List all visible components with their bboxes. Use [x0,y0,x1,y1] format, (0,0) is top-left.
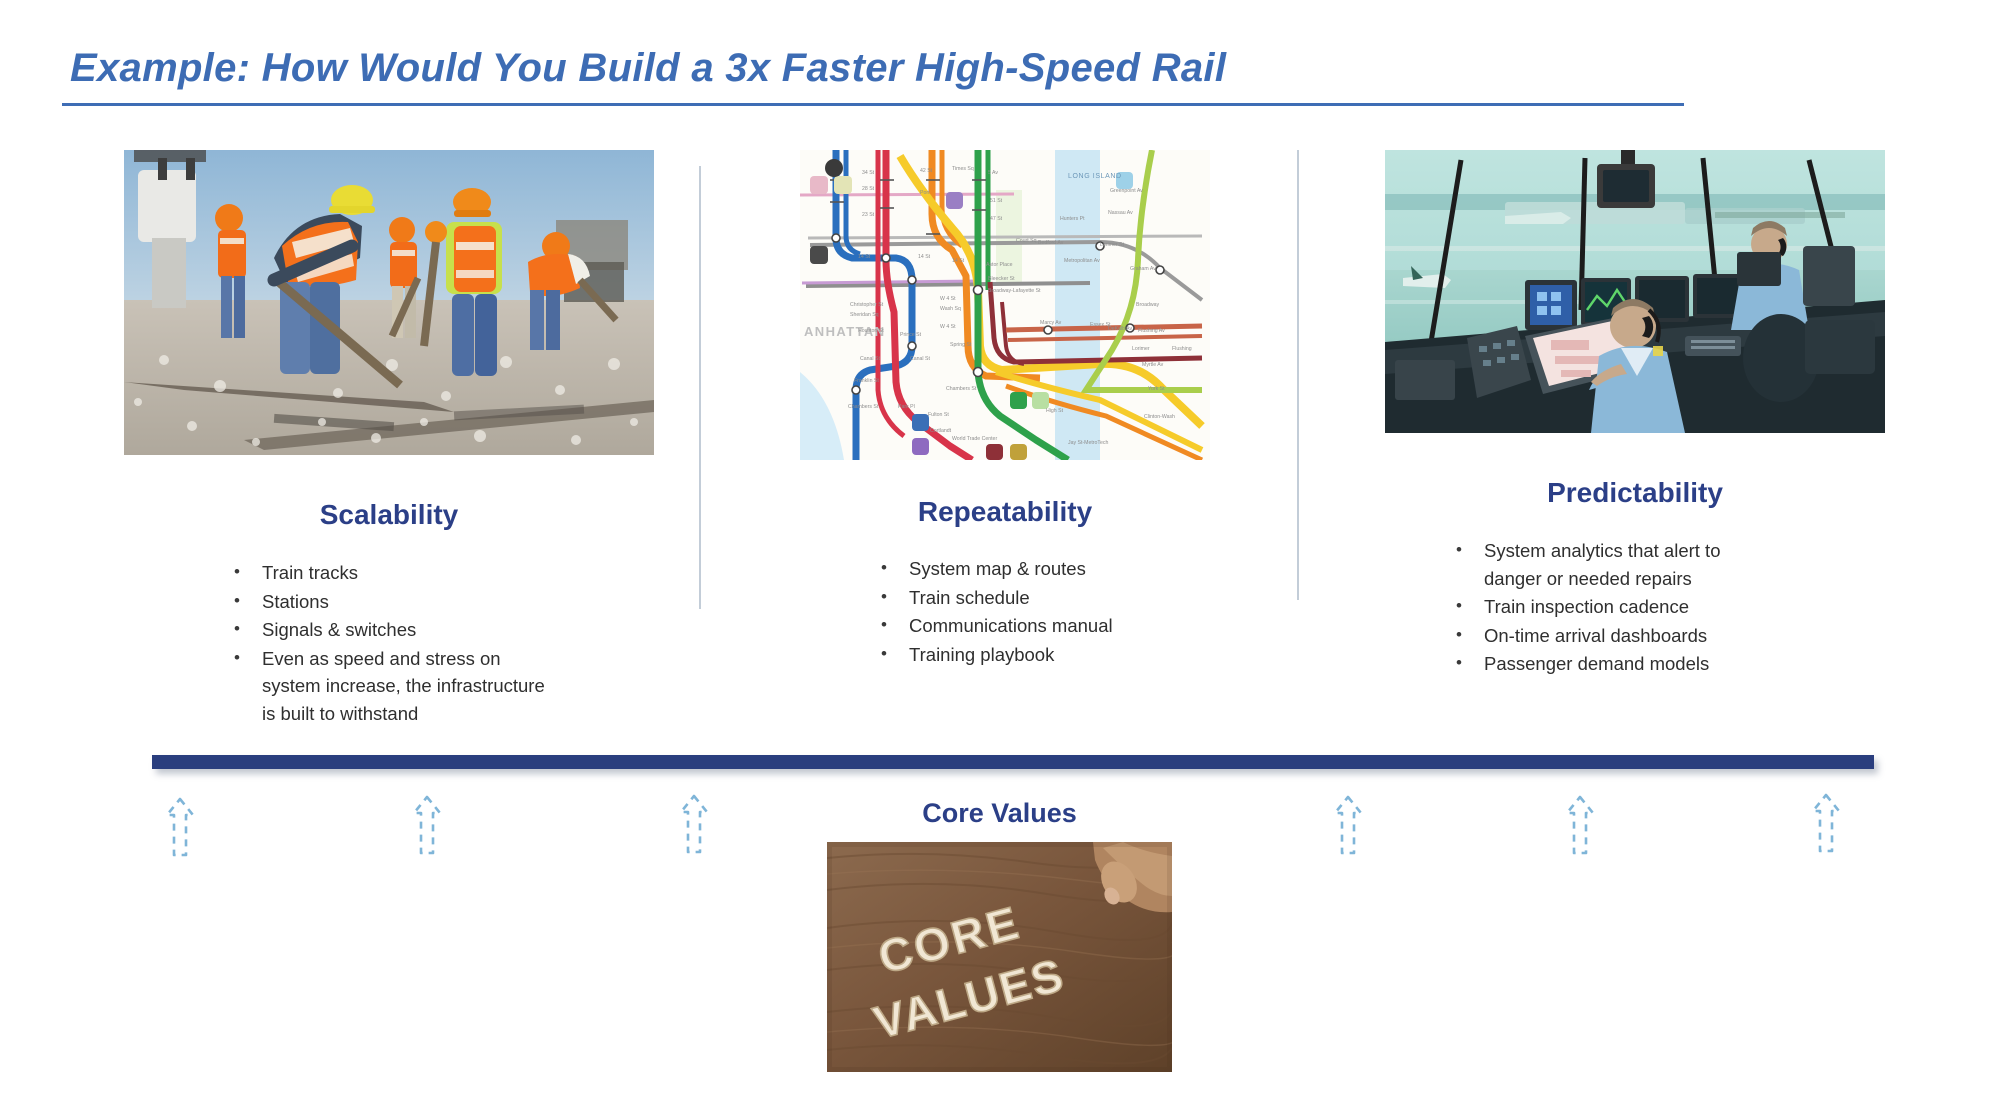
svg-text:Clinton-Wash: Clinton-Wash [1144,414,1175,420]
foundation-bar [152,755,1874,769]
list-item: Train inspection cadence [1448,593,1778,621]
svg-text:W 4 St: W 4 St [940,324,956,330]
svg-text:Christopher St: Christopher St [850,302,884,308]
list-item: Train tracks [226,559,556,587]
svg-text:Broadway: Broadway [1136,302,1159,308]
column-heading-predictability: Predictability [1385,477,1885,509]
page-title: Example: How Would You Build a 3x Faster… [70,46,1226,91]
svg-text:Metropolitan Av: Metropolitan Av [1064,258,1100,264]
svg-text:Chambers St: Chambers St [848,404,879,410]
svg-text:Bleecker St: Bleecker St [988,276,1015,282]
core-values-heading: Core Values [0,798,1999,829]
svg-text:Lorimer: Lorimer [1132,346,1150,352]
bullet-list-predictability: System analytics that alert to danger or… [1448,537,1778,678]
list-item: Train schedule [873,584,1203,612]
svg-text:23 St: 23 St [862,212,875,218]
svg-text:Bedford Av: Bedford Av [1038,240,1064,246]
svg-text:Broadway-Lafayette St: Broadway-Lafayette St [988,288,1041,294]
svg-text:Astor Place: Astor Place [986,262,1013,268]
list-item: Communications manual [873,612,1203,640]
svg-text:14 St: 14 St [918,254,931,260]
svg-text:42 St: 42 St [920,168,933,174]
list-item: Stations [226,588,556,616]
bullet-list-scalability: Train tracks Stations Signals & switches… [226,559,556,727]
svg-text:Spring St: Spring St [950,342,972,348]
svg-text:Sheridan Sq: Sheridan Sq [850,312,879,318]
core-values-photo: CORE VALUES [827,842,1172,1072]
svg-text:5 Av: 5 Av [988,170,998,176]
svg-text:28 St: 28 St [862,186,875,192]
svg-text:W 4 St: W 4 St [940,296,956,302]
svg-text:Park Pl: Park Pl [898,404,915,410]
svg-text:47 St: 47 St [990,216,1003,222]
column-heading-scalability: Scalability [124,499,654,531]
svg-text:Port: Port [920,190,930,196]
list-item: On-time arrival dashboards [1448,622,1778,650]
svg-text:Chambers St: Chambers St [946,386,977,392]
svg-text:Greenpoint Av: Greenpoint Av [1110,188,1143,194]
svg-text:34 St: 34 St [862,170,875,176]
svg-text:Houston St: Houston St [858,328,884,334]
svg-text:World Trade Center: World Trade Center [952,436,997,442]
svg-text:Fulton St: Fulton St [928,412,949,418]
svg-text:Lorimer St: Lorimer St [1100,242,1124,248]
svg-text:Flushing Av: Flushing Av [1138,328,1165,334]
list-item: Training playbook [873,641,1203,669]
svg-text:Canal St: Canal St [910,356,930,362]
subway-transit-system-map: ANHATTAN LONG ISLAND 34 St28 St23 St 42 … [800,150,1210,460]
svg-text:Nassau Av: Nassau Av [1108,210,1133,216]
column-scalability: Scalability Train tracks Stations Signal… [124,150,654,728]
list-item: Even as speed and stress on system incre… [226,645,556,728]
air-traffic-control-tower-photo [1385,150,1885,433]
svg-text:14 St: 14 St [858,254,871,260]
bullet-list-repeatability: System map & routes Train schedule Commu… [873,555,1203,668]
svg-text:Wash Sq: Wash Sq [940,306,961,312]
svg-text:Marcy Av: Marcy Av [1040,320,1062,326]
svg-text:York St: York St [1148,386,1165,392]
svg-text:Times Sq: Times Sq [952,166,974,172]
list-item: System analytics that alert to danger or… [1448,537,1778,592]
column-divider-right [1297,150,1299,600]
svg-text:Myrtle Av: Myrtle Av [1142,362,1164,368]
svg-text:14 St: 14 St [952,258,965,264]
column-repeatability: ANHATTAN LONG ISLAND 34 St28 St23 St 42 … [800,150,1210,669]
column-divider-left [699,166,701,609]
column-heading-repeatability: Repeatability [800,496,1210,528]
list-item: Passenger demand models [1448,650,1778,678]
svg-text:Graham Av: Graham Av [1130,266,1156,272]
svg-text:Franklin St: Franklin St [854,378,879,384]
svg-text:Canal St: Canal St [860,356,880,362]
svg-text:High St: High St [1046,408,1064,414]
svg-text:Prince St: Prince St [900,332,922,338]
svg-text:DeKalb Av: DeKalb Av [1108,326,1133,332]
railway-construction-workers-photo [124,150,654,455]
svg-text:Hunters Pt: Hunters Pt [1060,216,1085,222]
svg-text:51 St: 51 St [990,198,1003,204]
svg-text:Flushing: Flushing [1172,346,1192,352]
svg-text:Cortlandt: Cortlandt [930,428,952,434]
svg-text:Court Sq: Court Sq [1016,238,1037,244]
svg-text:Jay St-MetroTech: Jay St-MetroTech [1068,440,1108,446]
list-item: Signals & switches [226,616,556,644]
title-underline-rule [62,103,1684,106]
column-predictability: Predictability System analytics that ale… [1385,150,1885,679]
svg-text:LONG ISLAND: LONG ISLAND [1068,173,1122,180]
list-item: System map & routes [873,555,1203,583]
